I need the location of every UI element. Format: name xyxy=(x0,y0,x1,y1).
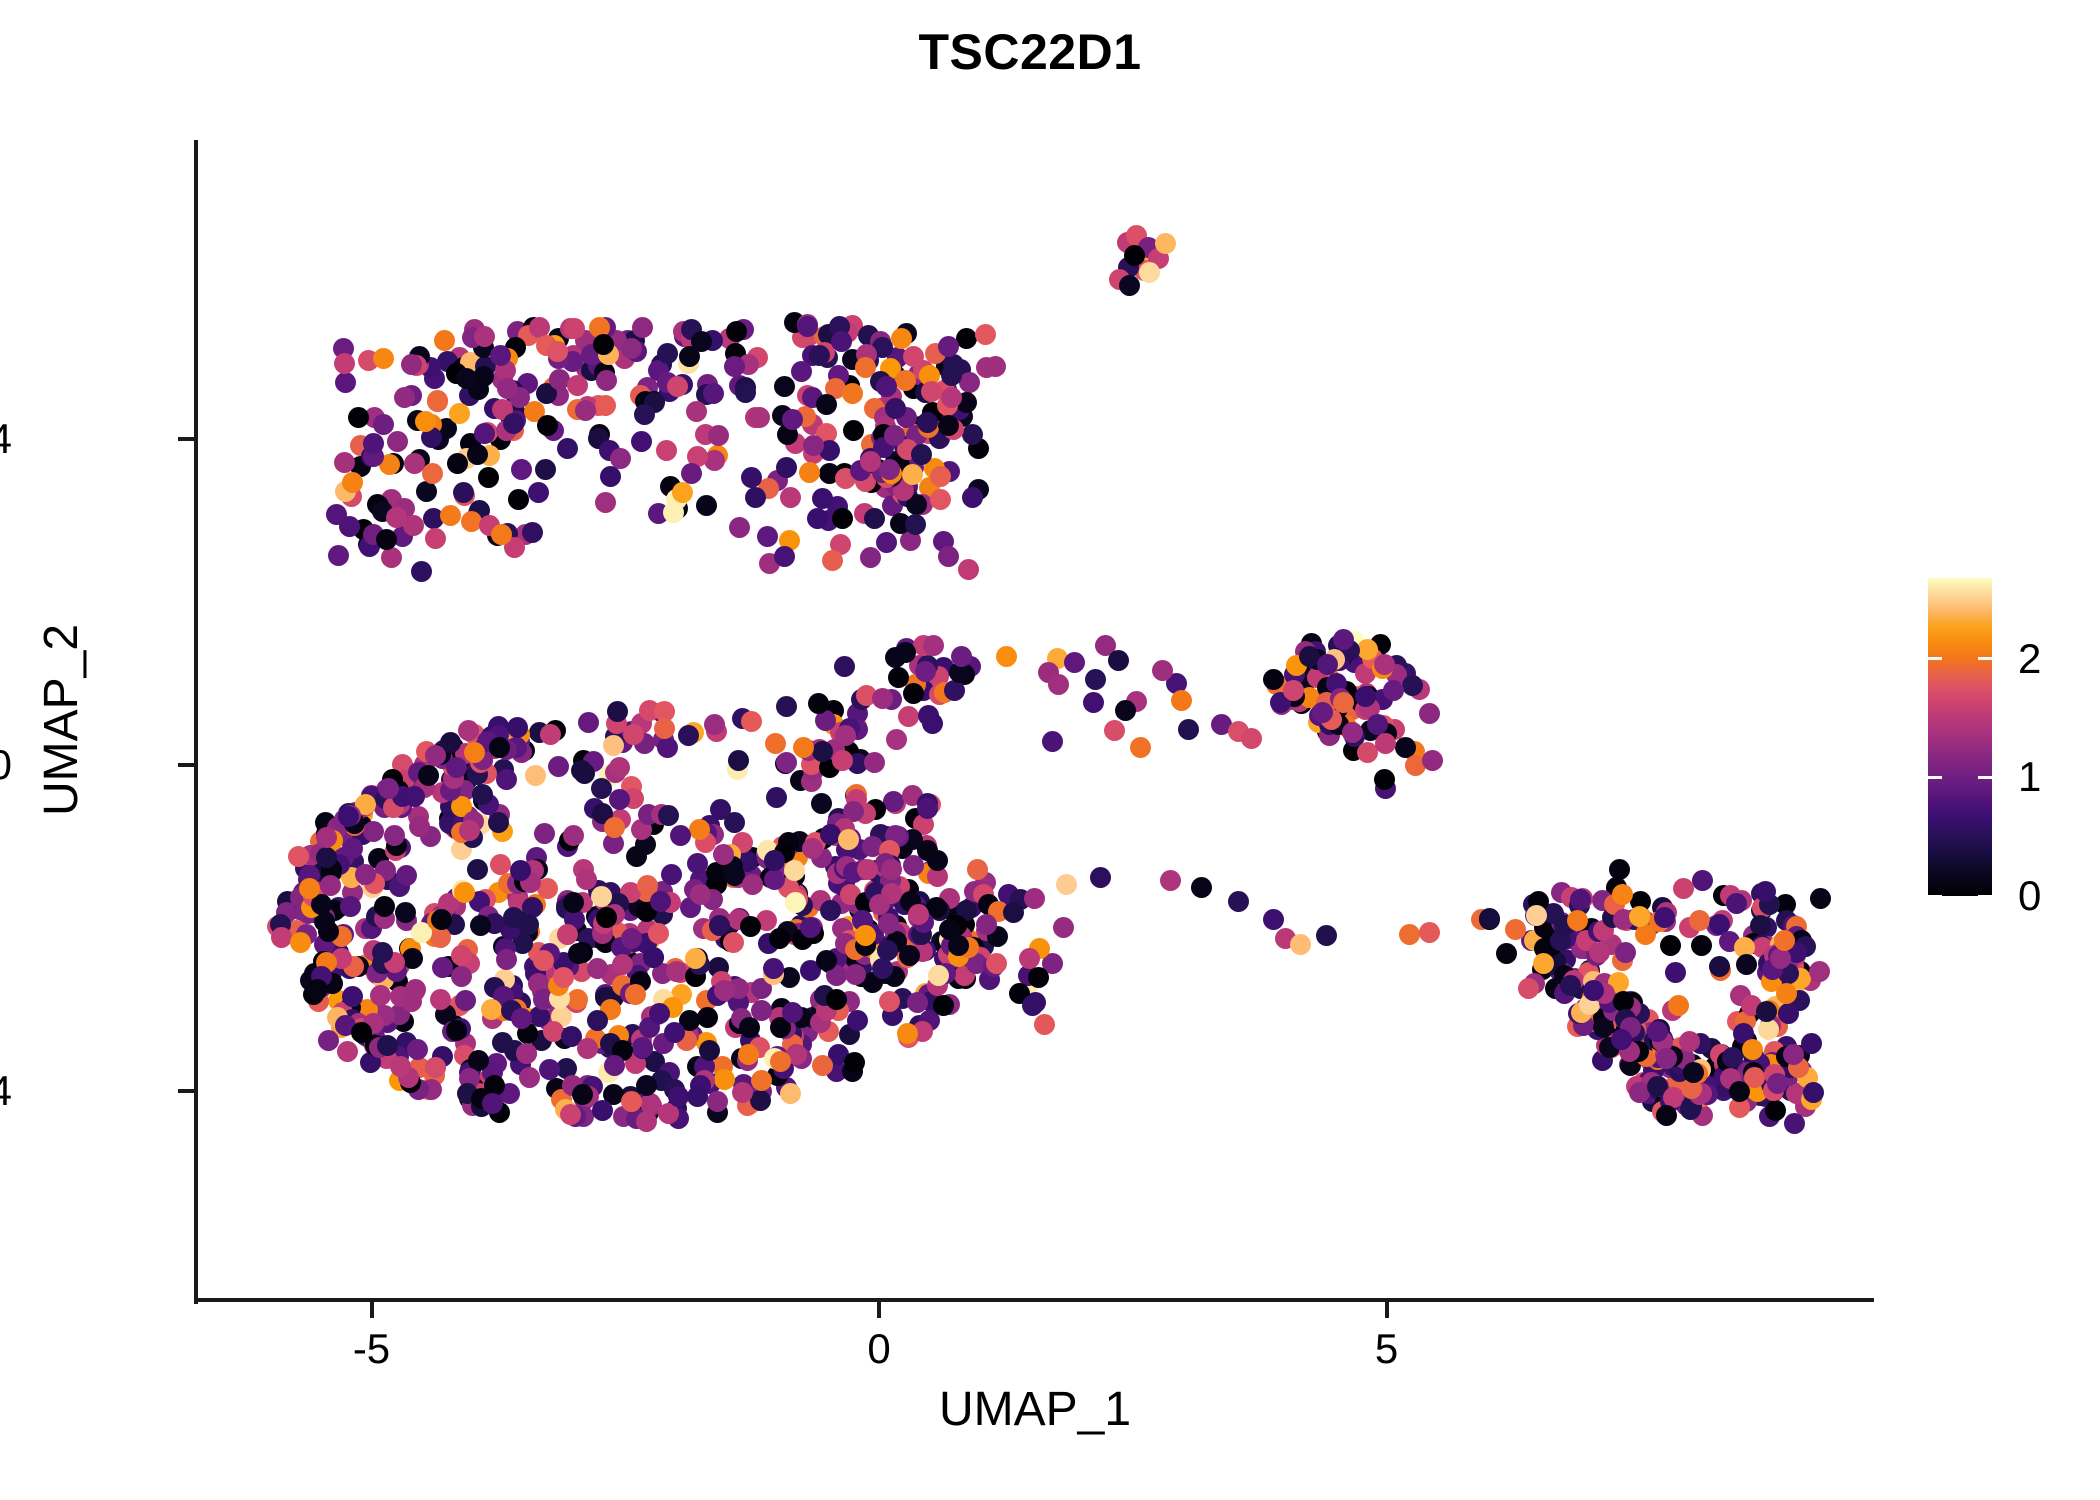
scatter-point xyxy=(1496,943,1517,964)
scatter-point xyxy=(508,489,529,510)
scatter-point xyxy=(780,1083,801,1104)
scatter-point xyxy=(440,505,461,526)
scatter-point xyxy=(917,798,938,819)
scatter-point xyxy=(881,859,902,880)
scatter-point xyxy=(405,979,426,1000)
scatter-point xyxy=(387,431,408,452)
scatter-point xyxy=(938,415,959,436)
scatter-point xyxy=(467,859,488,880)
scatter-point xyxy=(1767,1073,1788,1094)
scatter-point xyxy=(741,711,762,732)
scatter-point xyxy=(876,532,897,553)
scatter-point xyxy=(938,546,959,567)
scatter-point xyxy=(490,854,511,875)
scatter-point xyxy=(632,1037,653,1058)
scatter-point xyxy=(776,752,797,773)
scatter-point xyxy=(1316,925,1337,946)
scatter-point xyxy=(928,965,949,986)
scatter-point xyxy=(1774,930,1795,951)
scatter-point xyxy=(600,466,621,487)
scatter-point xyxy=(816,950,837,971)
scatter-point xyxy=(1085,669,1106,690)
scatter-point xyxy=(899,945,920,966)
scatter-point xyxy=(842,383,863,404)
x-tick-mark xyxy=(1385,1302,1389,1318)
colorbar-tick-mark xyxy=(1928,657,1942,660)
scatter-point xyxy=(299,878,320,899)
y-axis-line xyxy=(194,140,198,1304)
scatter-point xyxy=(425,528,446,549)
scatter-point xyxy=(519,1067,540,1088)
scatter-point xyxy=(596,370,617,391)
scatter-point xyxy=(596,907,617,928)
scatter-point xyxy=(930,489,951,510)
scatter-point xyxy=(808,693,829,714)
scatter-point xyxy=(1422,750,1443,771)
scatter-point xyxy=(1692,870,1713,891)
scatter-point xyxy=(539,1059,560,1080)
scatter-point xyxy=(1171,690,1192,711)
scatter-point xyxy=(404,786,425,807)
scatter-point xyxy=(1583,980,1604,1001)
scatter-point xyxy=(1679,1031,1700,1052)
scatter-point xyxy=(812,741,833,762)
scatter-point xyxy=(751,1070,772,1091)
scatter-point xyxy=(1726,893,1747,914)
scatter-point xyxy=(1691,935,1712,956)
scatter-point xyxy=(528,482,549,503)
scatter-point xyxy=(432,957,453,978)
scatter-point xyxy=(770,1051,791,1072)
scatter-point xyxy=(802,838,823,859)
scatter-point xyxy=(658,805,679,826)
scatter-point xyxy=(612,954,633,975)
scatter-point xyxy=(649,1003,670,1024)
scatter-point xyxy=(986,953,1007,974)
scatter-point xyxy=(670,825,691,846)
scatter-point xyxy=(557,438,578,459)
colorbar-tick-label: 2 xyxy=(2018,638,2041,680)
scatter-point xyxy=(714,980,735,1001)
scatter-point xyxy=(636,1111,657,1132)
scatter-point xyxy=(1560,975,1581,996)
scatter-point xyxy=(764,869,785,890)
scatter-point xyxy=(595,492,616,513)
scatter-point xyxy=(625,984,646,1005)
scatter-point xyxy=(724,356,745,377)
scatter-point xyxy=(510,860,531,881)
scatter-point xyxy=(1119,275,1140,296)
scatter-point xyxy=(576,869,597,890)
scatter-point xyxy=(797,316,818,337)
x-axis-line xyxy=(196,1298,1874,1302)
scatter-point xyxy=(1124,245,1145,266)
scatter-point xyxy=(587,1010,608,1031)
y-tick-mark xyxy=(178,763,194,767)
scatter-point xyxy=(903,855,924,876)
scatter-point xyxy=(271,927,292,948)
scatter-point xyxy=(376,529,397,550)
scatter-point xyxy=(390,1056,411,1077)
scatter-point xyxy=(407,1039,428,1060)
plot-panel[interactable] xyxy=(196,140,1874,1302)
scatter-point xyxy=(1155,233,1176,254)
scatter-point xyxy=(320,875,341,896)
scatter-point xyxy=(394,387,415,408)
scatter-point xyxy=(1034,1014,1055,1035)
scatter-point xyxy=(962,487,983,508)
scatter-point xyxy=(1083,692,1104,713)
scatter-point xyxy=(415,411,436,432)
scatter-point xyxy=(1683,1062,1704,1083)
scatter-point xyxy=(363,821,384,842)
scatter-point xyxy=(657,737,678,758)
scatter-point xyxy=(732,1082,753,1103)
y-tick-label: 4 xyxy=(0,418,12,460)
scatter-point xyxy=(845,964,866,985)
scatter-point xyxy=(703,383,724,404)
scatter-point xyxy=(603,735,624,756)
scatter-point xyxy=(793,737,814,758)
scatter-point xyxy=(478,467,499,488)
scatter-point xyxy=(416,481,437,502)
scatter-point xyxy=(455,990,476,1011)
scatter-point xyxy=(1809,961,1830,982)
scatter-point xyxy=(430,989,451,1010)
scatter-point xyxy=(431,909,452,930)
scatter-point xyxy=(449,403,470,424)
scatter-point xyxy=(1689,910,1710,931)
scatter-point xyxy=(548,756,569,777)
scatter-point xyxy=(636,1075,657,1096)
scatter-point xyxy=(985,356,1006,377)
scatter-point xyxy=(318,1030,339,1051)
scatter-point xyxy=(447,453,468,474)
scatter-point xyxy=(923,635,944,656)
scatter-point xyxy=(885,398,906,419)
scatter-point xyxy=(689,819,710,840)
scatter-point xyxy=(843,420,864,441)
scatter-point xyxy=(534,823,555,844)
scatter-point xyxy=(425,745,446,766)
scatter-point xyxy=(962,424,983,445)
scatter-point xyxy=(334,353,355,374)
scatter-point xyxy=(1656,1048,1677,1069)
scatter-point xyxy=(939,919,960,940)
scatter-point xyxy=(696,495,717,516)
scatter-point xyxy=(451,966,472,987)
scatter-point xyxy=(1801,1033,1822,1054)
scatter-point xyxy=(832,750,853,771)
scatter-point xyxy=(575,400,596,421)
scatter-point xyxy=(568,943,589,964)
scatter-point xyxy=(996,646,1017,667)
scatter-point xyxy=(903,683,924,704)
scatter-point xyxy=(877,940,898,961)
scatter-point xyxy=(1028,967,1049,988)
scatter-point xyxy=(338,806,359,827)
scatter-point xyxy=(1570,889,1591,910)
scatter-point xyxy=(307,979,328,1000)
scatter-point xyxy=(723,932,744,953)
scatter-point xyxy=(459,820,480,841)
y-axis-title: UMAP_2 xyxy=(34,138,90,1302)
colorbar-tick-mark xyxy=(1978,895,1992,898)
scatter-point xyxy=(567,375,588,396)
scatter-point xyxy=(1419,922,1440,943)
scatter-point xyxy=(1019,948,1040,969)
scatter-point xyxy=(1290,934,1311,955)
scatter-point xyxy=(812,1055,833,1076)
scatter-point xyxy=(656,440,677,461)
scatter-point xyxy=(905,514,926,535)
scatter-point xyxy=(464,742,485,763)
scatter-point xyxy=(378,778,399,799)
scatter-point xyxy=(1729,1081,1750,1102)
scatter-point xyxy=(404,453,425,474)
scatter-point xyxy=(1003,902,1024,923)
scatter-point xyxy=(1160,870,1181,891)
scatter-point xyxy=(1263,909,1284,930)
scatter-point xyxy=(604,1055,625,1076)
scatter-point xyxy=(578,712,599,733)
scatter-point xyxy=(975,324,996,345)
scatter-point xyxy=(729,517,750,538)
scatter-point xyxy=(872,958,893,979)
colorbar-tick-mark xyxy=(1978,776,1992,779)
scatter-point xyxy=(1668,995,1689,1016)
scatter-point xyxy=(907,992,928,1013)
scatter-point xyxy=(355,864,376,885)
scatter-point xyxy=(903,346,924,367)
scatter-point xyxy=(664,1022,685,1043)
scatter-point xyxy=(1660,935,1681,956)
scatter-point xyxy=(411,561,432,582)
scatter-point xyxy=(334,452,355,473)
scatter-point xyxy=(1383,680,1404,701)
scatter-point xyxy=(791,361,812,382)
scatter-point xyxy=(593,334,614,355)
scatter-point xyxy=(657,343,678,364)
scatter-point xyxy=(956,328,977,349)
scatter-point xyxy=(1191,877,1212,898)
scatter-point xyxy=(959,372,980,393)
scatter-point xyxy=(1104,720,1125,741)
scatter-point xyxy=(902,464,923,485)
scatter-point xyxy=(886,729,907,750)
scatter-point xyxy=(757,526,778,547)
x-axis-title: UMAP_1 xyxy=(196,1382,1874,1438)
scatter-point xyxy=(1048,674,1069,695)
scatter-point xyxy=(316,827,337,848)
scatter-point xyxy=(943,354,964,375)
scatter-point xyxy=(1479,908,1500,929)
scatter-point xyxy=(553,967,574,988)
scatter-point xyxy=(1056,874,1077,895)
scatter-point xyxy=(860,451,881,472)
scatter-point xyxy=(820,900,841,921)
scatter-point xyxy=(738,1044,759,1065)
scatter-point xyxy=(749,407,770,428)
scatter-point xyxy=(1589,942,1610,963)
scatter-point xyxy=(1612,884,1633,905)
scatter-point xyxy=(1178,719,1199,740)
scatter-point xyxy=(958,559,979,580)
scatter-point xyxy=(697,1007,718,1028)
scatter-point xyxy=(774,376,795,397)
scatter-point xyxy=(453,482,474,503)
scatter-point xyxy=(766,787,787,808)
scatter-point xyxy=(340,896,361,917)
y-tick-label: -4 xyxy=(0,1070,12,1112)
scatter-point xyxy=(782,1002,803,1023)
scatter-point xyxy=(857,859,878,880)
scatter-point xyxy=(888,667,909,688)
scatter-point xyxy=(921,381,942,402)
scatter-point xyxy=(1241,728,1262,749)
x-tick-label: -5 xyxy=(292,1326,452,1372)
scatter-point xyxy=(395,902,416,923)
scatter-point xyxy=(1419,703,1440,724)
scatter-point xyxy=(864,508,885,529)
scatter-point xyxy=(522,522,543,543)
y-tick-label: 0 xyxy=(0,744,12,786)
scatter-point xyxy=(540,724,561,745)
scatter-point xyxy=(1064,652,1085,673)
scatter-point xyxy=(610,448,631,469)
scatter-point xyxy=(1803,1082,1824,1103)
scatter-point xyxy=(915,661,936,682)
scatter-point xyxy=(897,1023,918,1044)
scatter-point xyxy=(1656,1105,1677,1126)
x-tick-mark xyxy=(877,1302,881,1318)
scatter-point xyxy=(735,382,756,403)
scatter-point xyxy=(328,545,349,566)
scatter-point xyxy=(592,1100,613,1121)
scatter-point xyxy=(976,914,997,935)
scatter-point xyxy=(864,752,885,773)
scatter-point xyxy=(488,812,509,833)
scatter-point xyxy=(1022,995,1043,1016)
scatter-point xyxy=(927,850,948,871)
scatter-point xyxy=(832,508,853,529)
scatter-point xyxy=(750,1090,771,1111)
scatter-point xyxy=(458,720,479,741)
colorbar-gradient xyxy=(1928,578,1992,896)
y-tick-mark xyxy=(178,437,194,441)
scatter-point xyxy=(809,345,830,366)
scatter-point xyxy=(496,769,517,790)
x-tick-label: 5 xyxy=(1307,1326,1467,1372)
scatter-point xyxy=(898,706,919,727)
scatter-point xyxy=(591,886,612,907)
colorbar-tick-mark xyxy=(1978,657,1992,660)
scatter-point xyxy=(776,457,797,478)
scatter-point xyxy=(938,336,959,357)
scatter-point xyxy=(474,326,495,347)
scatter-point xyxy=(713,844,734,865)
scatter-point xyxy=(672,482,693,503)
scatter-point xyxy=(481,999,502,1020)
scatter-point xyxy=(838,829,859,850)
scatter-point xyxy=(396,865,417,886)
scatter-point xyxy=(799,462,820,483)
page-title: TSC22D1 xyxy=(0,22,2060,82)
x-tick-label: 0 xyxy=(799,1326,959,1372)
scatter-point xyxy=(691,331,712,352)
scatter-point xyxy=(1317,654,1338,675)
scatter-point xyxy=(654,718,675,739)
scatter-point xyxy=(470,915,491,936)
scatter-point xyxy=(681,463,702,484)
scatter-point xyxy=(535,459,556,480)
scatter-point xyxy=(1615,942,1636,963)
scatter-point xyxy=(782,409,803,430)
scatter-point xyxy=(370,985,391,1006)
scatter-point xyxy=(776,696,797,717)
scatter-point xyxy=(348,407,369,428)
scatter-point xyxy=(595,395,616,416)
scatter-point xyxy=(377,1035,398,1056)
scatter-point xyxy=(587,958,608,979)
scatter-point xyxy=(621,338,642,359)
scatter-point xyxy=(1758,1019,1779,1040)
scatter-point xyxy=(1228,891,1249,912)
scatter-point xyxy=(577,1038,598,1059)
scatter-point xyxy=(678,725,699,746)
scatter-point xyxy=(609,757,630,778)
scatter-point xyxy=(1042,731,1063,752)
scatter-point xyxy=(1765,1100,1786,1121)
scatter-point xyxy=(373,348,394,369)
scatter-point xyxy=(686,401,707,422)
scatter-point xyxy=(1736,954,1757,975)
scatter-point xyxy=(290,932,311,953)
scatter-point xyxy=(708,425,729,446)
scatter-point xyxy=(661,864,682,885)
scatter-point xyxy=(930,466,951,487)
scatter-point xyxy=(492,1032,513,1053)
scatter-point xyxy=(1357,639,1378,660)
scatter-point xyxy=(685,948,706,969)
scatter-point xyxy=(917,412,938,433)
colorbar-tick-label: 1 xyxy=(2018,756,2041,798)
scatter-point xyxy=(1673,878,1694,899)
scatter-point xyxy=(714,1069,735,1090)
scatter-point xyxy=(1152,660,1173,681)
scatter-point xyxy=(812,488,833,509)
colorbar-tick-mark xyxy=(1928,776,1942,779)
scatter-point xyxy=(434,330,455,351)
scatter-point xyxy=(337,1041,358,1062)
scatter-point xyxy=(1778,1003,1799,1024)
scatter-point xyxy=(1742,1039,1763,1060)
scatter-point xyxy=(847,1010,868,1031)
scatter-point xyxy=(811,793,832,814)
scatter-point xyxy=(507,717,528,738)
scatter-point xyxy=(516,1043,537,1064)
scatter-point xyxy=(1665,962,1686,983)
scatter-point xyxy=(631,431,652,452)
scatter-point xyxy=(933,995,954,1016)
colorbar-legend[interactable] xyxy=(1928,578,1992,896)
scatter-point xyxy=(381,547,402,568)
scatter-point xyxy=(1024,888,1045,909)
scatter-point xyxy=(446,1020,467,1041)
scatter-point xyxy=(1784,1113,1805,1134)
scatter-point xyxy=(1526,905,1547,926)
scatter-point xyxy=(1533,953,1554,974)
